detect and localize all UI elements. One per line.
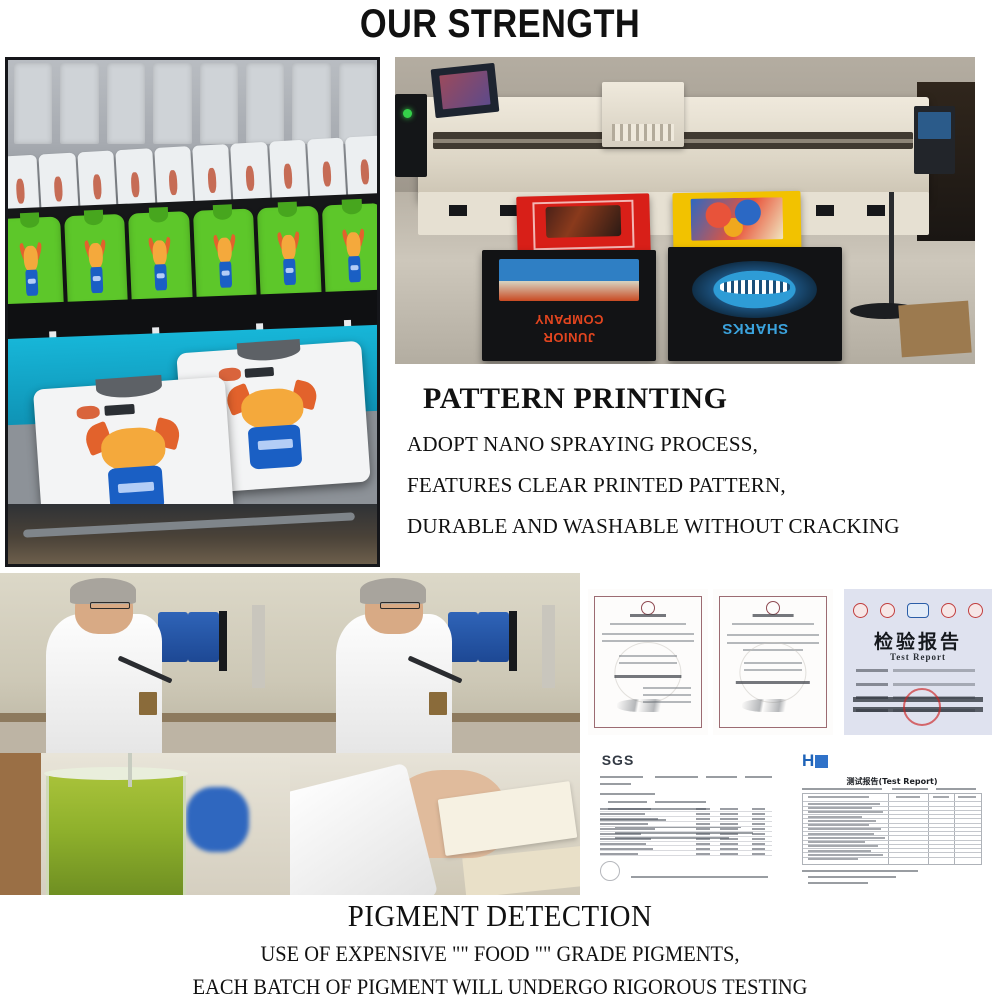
pattern-printing-text-block: PATTERN PRINTING ADOPT NANO SPRAYING PRO… xyxy=(395,382,1000,539)
print-plate-sharks: SHARKS xyxy=(668,247,842,361)
cardboard-box xyxy=(898,300,971,357)
ccc-logo-icon xyxy=(853,603,868,618)
test-report-title-cn: 检验报告 xyxy=(844,627,992,654)
certification-logos xyxy=(853,601,983,620)
pigment-detection-text-block: PIGMENT DETECTION USE OF EXPENSIVE "" FO… xyxy=(0,898,1000,1000)
photo-hand-holding-paper xyxy=(290,753,580,895)
chemist-hair xyxy=(70,578,137,603)
print-plate-red xyxy=(516,193,651,258)
tablet-screen[interactable] xyxy=(430,63,499,119)
wall-panels xyxy=(8,63,377,145)
iso-logo-icon xyxy=(968,603,983,618)
plate-text-sharks: SHARKS xyxy=(668,320,842,337)
bull-mascot-icon xyxy=(215,235,235,291)
photo-tshirt-production-line xyxy=(5,57,380,567)
pattern-printing-line-3: DURABLE AND WASHABLE WITHOUT CRACKING xyxy=(395,514,1000,539)
printer-frame xyxy=(418,97,928,201)
certificate-emblem-icon xyxy=(641,601,655,615)
glasses-icon xyxy=(380,602,421,609)
side-control-box xyxy=(395,94,427,177)
page-title: OUR STRENGTH xyxy=(70,0,930,50)
bull-mascot-icon xyxy=(150,237,170,293)
print-head-carriage xyxy=(602,82,684,147)
pigment-detection-line-2: EACH BATCH OF PIGMENT WILL UNDERGO RIGOR… xyxy=(35,974,965,1000)
photo-lab-chemist-left xyxy=(0,573,290,753)
report-sgs: SGS xyxy=(588,745,784,885)
bull-mascot-icon xyxy=(86,240,106,296)
sgs-result-table xyxy=(600,807,772,866)
pigment-detection-line-1: USE OF EXPENSIVE "" FOOD "" GRADE PIGMEN… xyxy=(35,941,965,967)
pigment-detection-heading: PIGMENT DETECTION xyxy=(35,898,965,934)
photo-dtg-printer: JUNIOR COMPANY SHARKS xyxy=(395,57,975,364)
background-equipment xyxy=(186,787,250,852)
bull-mascot-icon xyxy=(231,381,318,474)
shark-graphic-icon xyxy=(692,261,817,318)
stirring-rod xyxy=(128,753,132,787)
lab-coat xyxy=(336,614,452,753)
printer-control-panel[interactable] xyxy=(914,106,955,174)
h-report-title: 测试报告(Test Report) xyxy=(792,776,992,787)
certificates-area: 检验报告 Test Report SGS xyxy=(580,573,1000,895)
cqc-logo-icon xyxy=(880,603,895,618)
sgs-logo: SGS xyxy=(602,752,635,768)
plate-text-company: COMPANY xyxy=(482,312,656,327)
h-logo: H xyxy=(802,751,828,771)
sample-vial xyxy=(139,692,156,715)
photo-green-pigment-beaker xyxy=(0,753,290,895)
chemist-hair xyxy=(360,578,427,603)
certificate-iso-english xyxy=(713,589,833,735)
bull-mascot-icon xyxy=(279,232,299,288)
bull-mascot-icon xyxy=(21,243,41,299)
glasses-icon xyxy=(90,602,131,609)
pattern-printing-line-2: FEATURES CLEAR PRINTED PATTERN, xyxy=(395,473,1000,498)
bull-mascot-icon xyxy=(344,229,364,285)
certificate-test-report: 检验报告 Test Report xyxy=(844,589,992,735)
h-report-table xyxy=(802,793,982,866)
pattern-printing-line-1: ADOPT NANO SPRAYING PROCESS, xyxy=(395,432,1000,457)
sample-vial xyxy=(429,692,446,715)
cnas-logo-icon xyxy=(907,603,929,618)
plate-text-junior: JUNIOR xyxy=(482,330,656,345)
lab-coat xyxy=(46,614,162,753)
test-report-title-en: Test Report xyxy=(844,652,992,662)
certificate-iso-chinese xyxy=(588,589,708,735)
report-pigment-test: H 测试报告(Test Report) xyxy=(792,745,992,885)
camera-stand-pole xyxy=(889,192,894,309)
glass-beaker xyxy=(46,776,185,895)
pattern-printing-heading: PATTERN PRINTING xyxy=(395,382,1000,416)
photo-lab-chemist-right xyxy=(290,573,580,753)
certificate-emblem-icon xyxy=(766,601,780,615)
cma-logo-icon xyxy=(941,603,956,618)
bottom-photo-strip: 检验报告 Test Report SGS xyxy=(0,573,1000,895)
sgs-stamp-icon xyxy=(600,861,620,881)
print-plate-junior-company: JUNIOR COMPANY xyxy=(482,250,656,361)
